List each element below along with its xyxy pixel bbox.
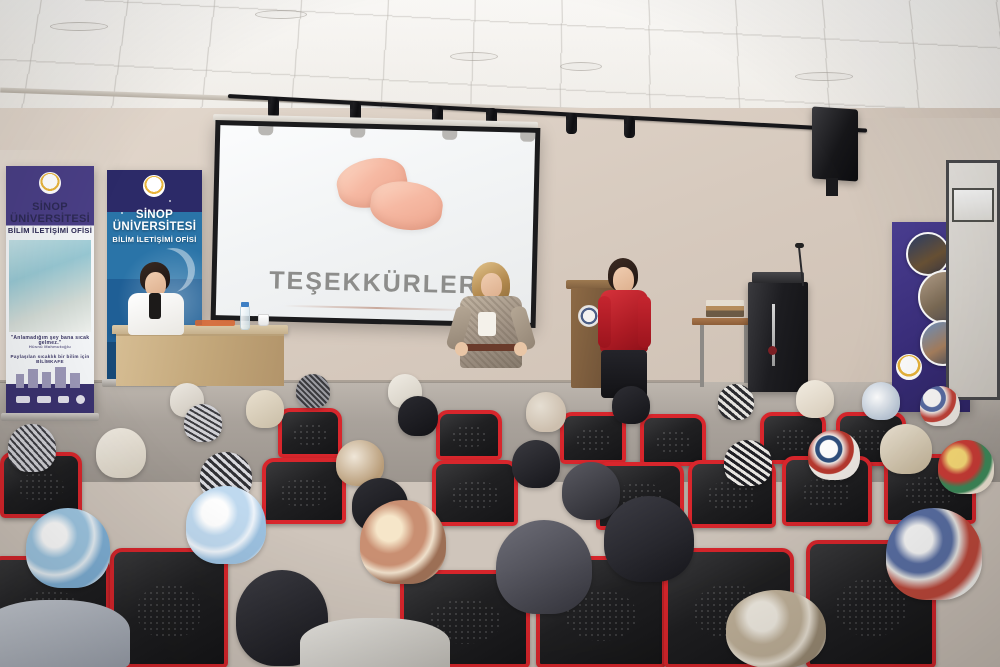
seat[interactable]	[436, 410, 502, 460]
rack-top-unit	[752, 272, 804, 283]
ceiling-vent	[255, 10, 307, 19]
audience-head	[880, 424, 932, 474]
ceiling-vent	[560, 62, 602, 71]
audience-head	[526, 392, 566, 432]
seat[interactable]	[432, 460, 518, 526]
drinking-cup	[258, 314, 269, 326]
arm-left	[598, 296, 611, 348]
audience-head	[562, 462, 620, 520]
inner-top	[149, 293, 161, 319]
microphone-head	[795, 243, 804, 248]
person-seated-moderator	[126, 262, 188, 332]
banner-left-sponsor-logos	[6, 394, 94, 404]
screen-tab	[350, 128, 365, 137]
water-bottle	[240, 306, 250, 330]
banner-left-photo	[9, 240, 91, 332]
audience-head-foreground	[726, 590, 826, 667]
audience-head	[938, 440, 994, 494]
head-table-front	[116, 334, 284, 386]
screen-tab	[442, 131, 457, 140]
rack-indicator	[768, 346, 777, 355]
audience-head	[246, 390, 284, 428]
door-window	[952, 188, 994, 222]
book-stack	[706, 300, 744, 317]
speaker-bracket	[826, 178, 838, 196]
audience-head	[808, 430, 860, 480]
audience-head-foreground	[26, 508, 110, 588]
hand-right	[514, 342, 527, 356]
screen-tab	[520, 133, 535, 142]
audience-head	[8, 424, 56, 472]
face	[481, 273, 502, 298]
tablet-illustration	[368, 177, 446, 234]
banner-left-quote-author: Hüsnü Mahmutoğlu	[6, 345, 94, 349]
audience-shoulders	[0, 600, 130, 667]
banner-center-line2: ÜNİVERSİTESİ	[107, 222, 202, 234]
loudspeaker	[812, 106, 858, 181]
banner-left-line3: BİLİM İLETİŞİMİ OFİSİ	[6, 227, 94, 235]
audience-head	[862, 382, 900, 420]
side-desk	[692, 318, 754, 325]
banner-left-line2: ÜNİVERSİTESİ	[6, 214, 94, 225]
audience-head-foreground	[886, 508, 982, 600]
seat[interactable]	[262, 458, 346, 524]
audience-head	[718, 384, 754, 420]
ceiling-vent	[50, 22, 108, 31]
university-logo-icon	[143, 175, 165, 197]
audience-head	[398, 396, 438, 436]
bottle-cap	[241, 302, 249, 307]
audience-head	[612, 386, 650, 424]
audience-head	[96, 428, 146, 478]
audience-head	[724, 440, 772, 486]
audience-head-foreground	[604, 496, 694, 582]
rack-handle	[772, 304, 775, 366]
person-host-red	[596, 258, 652, 403]
av-equipment-rack	[748, 282, 808, 392]
audience-head-foreground	[496, 520, 592, 614]
desk-leg	[700, 325, 704, 387]
coat-belt	[462, 344, 520, 351]
photo-scene: TEŞEKKÜRLER SİNOP ÜNİVERSİTESİ BİLİM İLE…	[0, 0, 1000, 667]
slide-divider	[284, 305, 470, 312]
track-spotlight	[566, 113, 577, 134]
audience-head	[512, 440, 560, 488]
arm-right	[638, 296, 651, 348]
banner-left: SİNOP ÜNİVERSİTESİ BİLİM İLETİŞİMİ OFİSİ…	[6, 166, 94, 414]
track-spotlight	[624, 117, 635, 138]
ceiling-vent	[450, 52, 498, 61]
university-logo-icon	[39, 172, 61, 194]
table-folder	[195, 320, 235, 326]
banner-left-skyline-graphic	[14, 366, 86, 388]
hand-left	[455, 342, 468, 356]
star-decor	[169, 200, 171, 202]
screen-tab	[258, 126, 273, 135]
seat[interactable]	[278, 408, 342, 458]
audience-head	[796, 380, 834, 418]
audience-head-foreground	[360, 500, 446, 584]
audience-head	[920, 386, 960, 426]
banner-left-tagline: Paylaşılan sıcaklık bir bilim için BİLİM…	[6, 355, 94, 365]
person-presenter-center	[450, 262, 532, 412]
university-logo-icon	[896, 354, 922, 380]
audience-shoulders	[300, 618, 450, 667]
inner-top	[478, 312, 496, 336]
banner-base	[1, 413, 99, 421]
seat[interactable]	[640, 414, 706, 466]
banner-left-line1: SİNOP	[6, 202, 94, 213]
banner-center-line3: BİLİM İLETİŞİMİ OFİSİ	[107, 236, 202, 244]
ceiling-vent	[795, 72, 853, 81]
audience-head-foreground	[186, 486, 266, 564]
audience-head	[184, 404, 222, 442]
audience-head	[296, 374, 330, 408]
seat[interactable]	[560, 412, 626, 464]
